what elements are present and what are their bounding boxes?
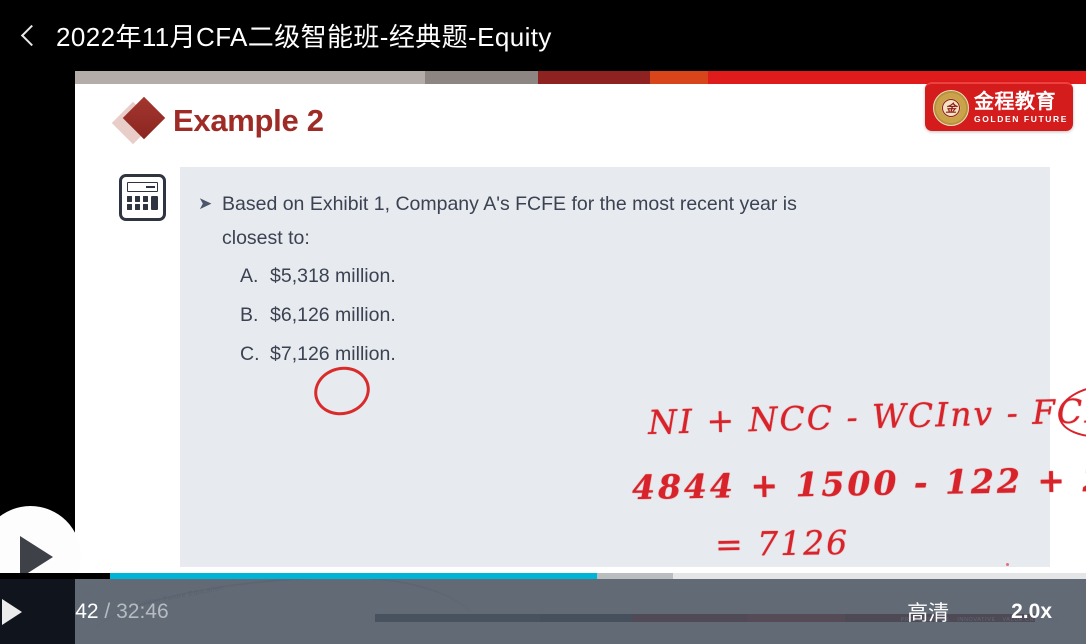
option-b-text: $6,126 million.: [270, 296, 396, 335]
calc-key: [127, 204, 132, 210]
question-panel: ➤ Based on Exhibit 1, Company A's FCFE f…: [180, 167, 1050, 567]
calculator-keypad: [127, 196, 148, 211]
top-navigation-bar: 2022年11月CFA二级智能班-经典题-Equity: [0, 0, 1086, 71]
brand-name-en: GOLDEN FUTURE: [974, 115, 1068, 124]
handwriting-dot: [1006, 563, 1009, 566]
brand-text: 金程教育 GOLDEN FUTURE: [974, 92, 1068, 124]
option-a-text: $5,318 million.: [270, 257, 396, 296]
diamond-bullet-icon: [117, 98, 173, 144]
option-a[interactable]: A. $5,318 million.: [240, 257, 1036, 296]
option-c[interactable]: C. $7,126 million.: [240, 335, 1036, 374]
brand-name-cn: 金程教育: [974, 92, 1068, 112]
calc-enter-key: [151, 196, 158, 211]
option-b[interactable]: B. $6,126 million.: [240, 296, 1036, 335]
quality-selector[interactable]: 高清: [907, 597, 949, 627]
stripe-segment-2: [425, 71, 538, 84]
video-player-page: 2022年11月CFA二级智能班-经典题-Equity 金 金程教育 GOLDE…: [0, 0, 1086, 644]
option-b-letter: B.: [240, 296, 270, 335]
brand-seal-icon: 金: [933, 90, 969, 126]
calculator-keys: [127, 196, 158, 211]
question-text: Based on Exhibit 1, Company A's FCFE for…: [222, 187, 1036, 255]
total-time: 32:46: [116, 600, 169, 623]
playback-speed-selector[interactable]: 2.0x: [1011, 600, 1052, 624]
question-line-2: closest to:: [222, 221, 1036, 255]
option-a-letter: A.: [240, 257, 270, 296]
handwriting-substitution: 4844 + 1500 - 122 + 2379 - 1475: [632, 456, 1086, 507]
stripe-segment-1: [75, 71, 425, 84]
video-stage[interactable]: 金 金程教育 GOLDEN FUTURE Example 2: [0, 71, 1086, 644]
time-separator: /: [104, 600, 110, 623]
seal-inner-glyph: 金: [942, 99, 960, 117]
stripe-segment-3: [538, 71, 650, 84]
calc-key: [143, 196, 148, 202]
question-header: ➤ Based on Exhibit 1, Company A's FCFE f…: [198, 187, 1036, 255]
brand-logo: 金 金程教育 GOLDEN FUTURE: [925, 82, 1073, 131]
player-control-bar: 16:42 / 32:46 高清 2.0x: [0, 579, 1086, 644]
page-title: 2022年11月CFA二级智能班-经典题-Equity: [56, 17, 552, 54]
stripe-segment-4: [650, 71, 708, 84]
calc-key: [127, 196, 132, 202]
calc-key: [135, 196, 140, 202]
option-c-letter: C.: [240, 335, 270, 374]
slide-canvas: 金 金程教育 GOLDEN FUTURE Example 2: [75, 71, 1086, 644]
answer-options: A. $5,318 million. B. $6,126 million. C.…: [198, 257, 1036, 374]
calculator-icon: [119, 174, 166, 221]
slide-title-group: Example 2: [117, 98, 324, 144]
calc-key: [135, 204, 140, 210]
handwriting-result: = 7126: [715, 523, 850, 564]
handwriting-circle-nb: [1055, 380, 1086, 443]
slide-title: Example 2: [173, 103, 324, 139]
handwriting-formula: NI + NCC - WCInv - FCInv + NB: [648, 387, 1086, 442]
play-pause-button[interactable]: [0, 579, 38, 644]
chevron-left-icon: [20, 25, 41, 46]
question-block: ➤ Based on Exhibit 1, Company A's FCFE f…: [198, 187, 1036, 374]
calc-key: [143, 204, 148, 210]
question-line-1: Based on Exhibit 1, Company A's FCFE for…: [222, 193, 797, 215]
calculator-display: [127, 182, 158, 192]
back-button[interactable]: [0, 0, 56, 71]
bullet-arrow-icon: ➤: [198, 187, 222, 221]
